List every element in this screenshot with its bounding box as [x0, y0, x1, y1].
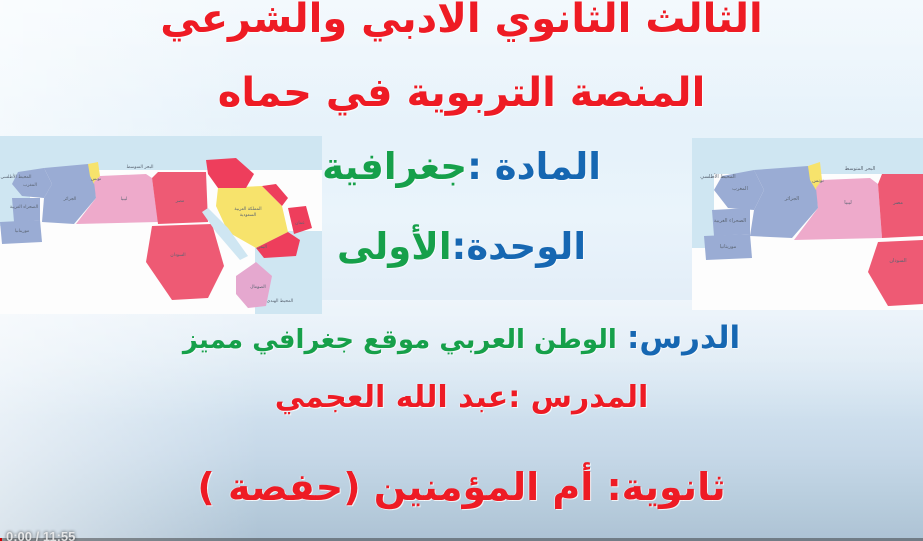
svg-text:المحيط الهندي: المحيط الهندي	[267, 299, 293, 304]
lesson-value: الوطن العربي موقع جغرافي مميز	[183, 325, 617, 355]
svg-text:الصحراء الغربية: الصحراء الغربية	[714, 218, 746, 224]
school-line: ثانوية: أم المؤمنين (حفصة )	[0, 468, 923, 508]
teacher-line: المدرس :عبد الله العجمي	[0, 382, 923, 414]
svg-text:مصر: مصر	[175, 199, 185, 204]
video-controls-overlay: 0:00 / 11:55	[0, 519, 923, 541]
svg-text:الصومال: الصومال	[250, 285, 266, 290]
svg-text:المملكة العربية: المملكة العربية	[234, 206, 261, 212]
subject-line: المادة :جغرافية	[0, 148, 923, 187]
svg-text:السعودية: السعودية	[240, 213, 256, 218]
svg-text:الجزائر: الجزائر	[63, 197, 77, 202]
slide-title-line-2: المنصة التربوية في حماه	[0, 72, 923, 114]
svg-text:عمان: عمان	[295, 221, 305, 226]
svg-text:ليبيا: ليبيا	[121, 197, 128, 202]
svg-text:الصحراء الغربية: الصحراء الغربية	[10, 205, 38, 210]
unit-line: الوحدة:الأولى	[0, 228, 923, 267]
lesson-label: الدرس:	[627, 320, 740, 356]
svg-text:الجزائر: الجزائر	[784, 196, 799, 202]
video-frame: المحيط الأطلسي المغرب الجزائر تونس ليبيا…	[0, 0, 923, 541]
svg-text:المغرب: المغرب	[732, 186, 748, 192]
svg-text:مصر: مصر	[892, 200, 903, 206]
video-time-display: 0:00 / 11:55	[6, 529, 75, 541]
subject-value: جغرافية	[322, 145, 467, 188]
slide-title-line-1: الثالث الثانوي الادبي والشرعي	[0, 0, 923, 40]
subject-label: المادة :	[467, 145, 601, 188]
unit-value: الأولى	[337, 225, 452, 268]
lesson-line: الدرس: الوطن العربي موقع جغرافي مميز	[0, 322, 923, 355]
svg-text:ليبيا: ليبيا	[844, 200, 852, 206]
unit-label: الوحدة:	[452, 225, 586, 268]
